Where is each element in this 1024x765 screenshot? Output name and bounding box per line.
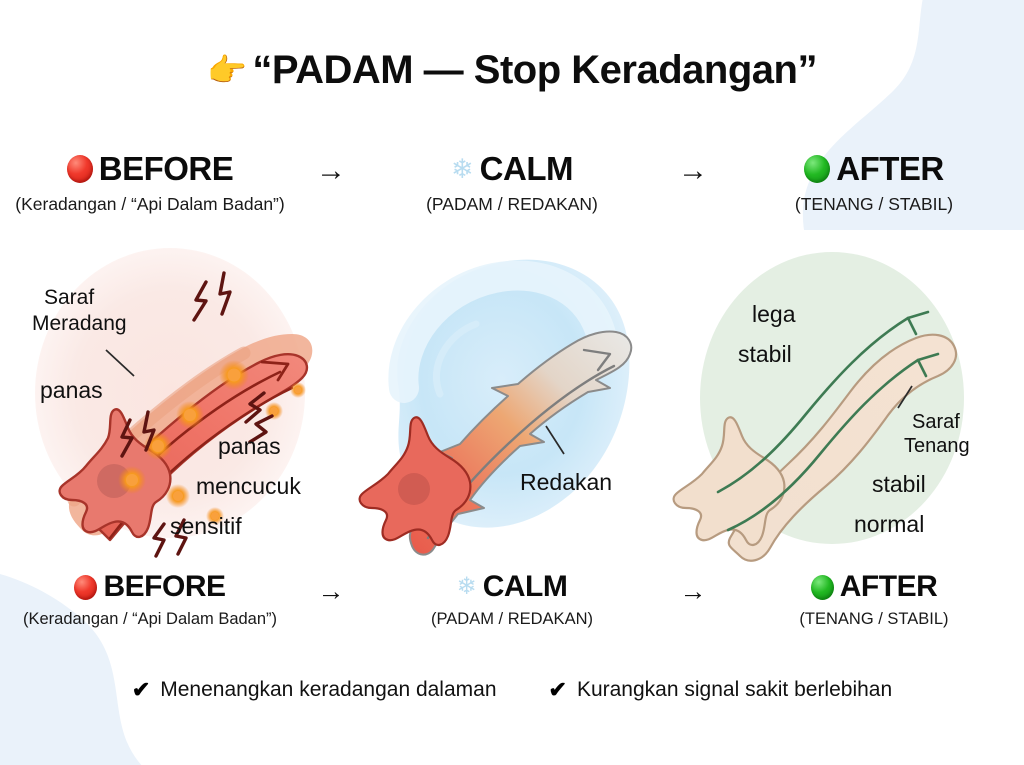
stage-calm-bottom: ❄ CALM (PADAM / REDAKAN) (362, 570, 662, 629)
stage-before-bottom: BEFORE (Keradangan / “Api Dalam Badan”) (0, 570, 300, 629)
label-stabil-top: stabil (738, 341, 792, 367)
label-normal: normal (854, 511, 924, 537)
label-meradang: Meradang (32, 312, 127, 335)
stage-arrow-1-bottom: → (300, 570, 362, 612)
stage-after-bottom: AFTER (TENANG / STABIL) (724, 570, 1024, 629)
infographic-canvas: 👉“PADAM — Stop Keradangan” BEFORE (Kerad… (0, 0, 1024, 765)
stage-sub-after-bottom: (TENANG / STABIL) (799, 610, 948, 629)
illustration-band: Saraf Meradang panas panas mencucuk sens… (0, 238, 1024, 568)
label-panas-right: panas (218, 433, 281, 459)
label-sensitif: sensitif (170, 513, 242, 539)
check-icon: ✔ (132, 679, 150, 701)
label-redakan: Redakan (520, 469, 612, 495)
snowflake-icon: ❄ (451, 156, 474, 183)
stage-calm-top: ❄ CALM (PADAM / REDAKAN) (362, 150, 662, 215)
stage-label-calm-bottom: CALM (483, 570, 568, 604)
page-title: 👉“PADAM — Stop Keradangan” (0, 48, 1024, 93)
neuron-nucleus-calm (398, 473, 430, 505)
label-panas-left: panas (40, 377, 103, 403)
benefit-label-2: Kurangkan signal sakit berlebihan (577, 678, 892, 702)
panel-calm-cooling-nerve: Redakan (352, 238, 672, 568)
label-stabil-bottom: stabil (872, 471, 926, 497)
stage-label-after: AFTER (836, 150, 944, 188)
green-circle-icon (811, 575, 834, 600)
stage-after-top: AFTER (TENANG / STABIL) (724, 150, 1024, 215)
benefit-label-1: Menenangkan keradangan dalaman (160, 678, 496, 702)
stage-sub-calm-bottom: (PADAM / REDAKAN) (431, 610, 593, 629)
snowflake-icon: ❄ (457, 575, 477, 599)
benefit-item-1: ✔ Menenangkan keradangan dalaman (132, 678, 497, 702)
red-circle-icon (74, 575, 97, 600)
stage-label-after-bottom: AFTER (840, 570, 938, 604)
title-label: “PADAM — Stop Keradangan” (252, 48, 817, 92)
label-saraf: Saraf (44, 286, 94, 309)
stage-label-before-bottom: BEFORE (103, 570, 225, 604)
footer-benefits: ✔ Menenangkan keradangan dalaman ✔ Kuran… (0, 678, 1024, 702)
pointing-finger-icon: 👉 (207, 52, 246, 88)
stage-arrow-1: → (300, 150, 362, 192)
label-tenang: Tenang (904, 435, 970, 457)
stage-sub-before: (Keradangan / “Api Dalam Badan”) (15, 194, 284, 215)
stage-row-bottom: BEFORE (Keradangan / “Api Dalam Badan”) … (0, 570, 1024, 629)
benefit-item-2: ✔ Kurangkan signal sakit berlebihan (549, 678, 893, 702)
stage-arrow-2-bottom: → (662, 570, 724, 612)
panel-before-inflamed-nerve: Saraf Meradang panas panas mencucuk sens… (10, 238, 360, 568)
stage-before-top: BEFORE (Keradangan / “Api Dalam Badan”) (0, 150, 300, 215)
stage-label-before: BEFORE (99, 150, 234, 188)
stage-sub-calm: (PADAM / REDAKAN) (426, 194, 598, 215)
green-circle-icon (804, 155, 830, 183)
label-saraf: Saraf (912, 411, 960, 433)
label-mencucuk: mencucuk (196, 473, 301, 499)
stage-label-calm: CALM (480, 150, 573, 188)
stage-arrow-2: → (662, 150, 724, 192)
label-lega: lega (752, 301, 796, 327)
stage-row-top: BEFORE (Keradangan / “Api Dalam Badan”) … (0, 150, 1024, 215)
stage-sub-after: (TENANG / STABIL) (795, 194, 953, 215)
red-circle-icon (67, 155, 93, 183)
stage-sub-before-bottom: (Keradangan / “Api Dalam Badan”) (23, 610, 277, 629)
panel-after-calm-nerve: lega stabil Saraf Tenang stabil normal (660, 238, 1010, 568)
check-icon: ✔ (549, 679, 567, 701)
